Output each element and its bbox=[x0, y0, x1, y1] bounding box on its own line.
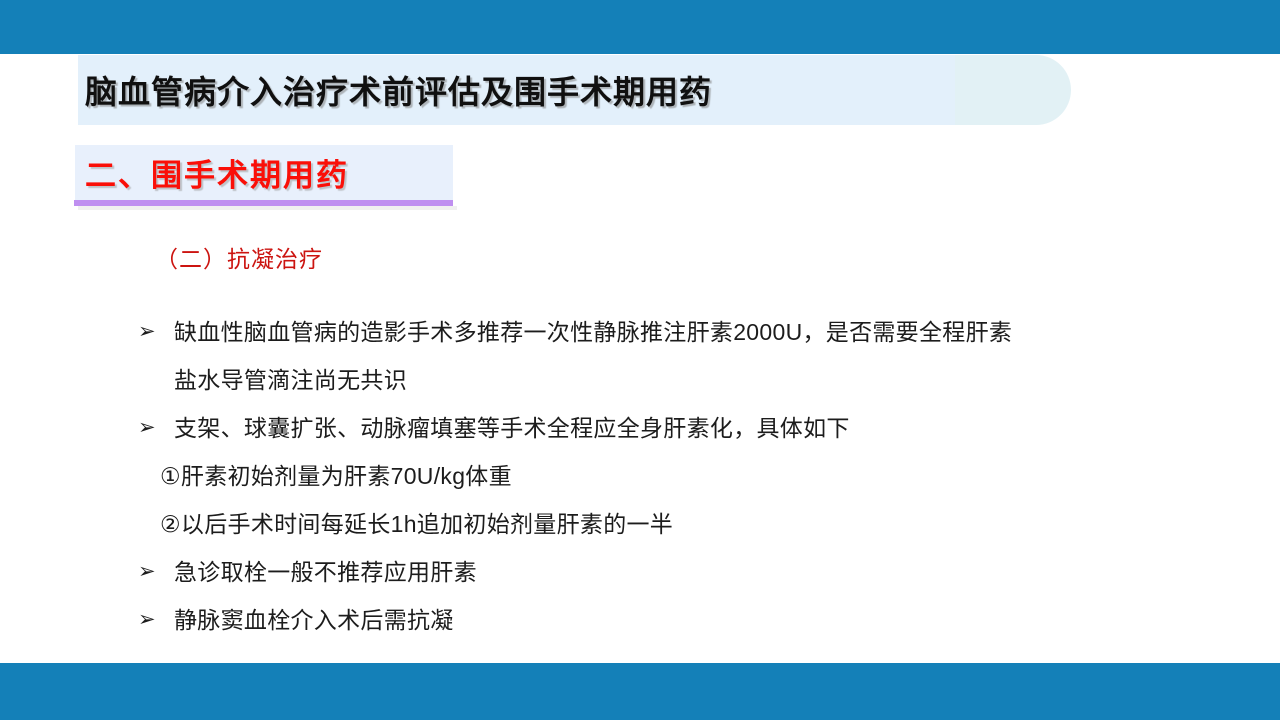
sub-heading-label: （二）抗凝治疗 bbox=[155, 240, 323, 274]
list-item-continuation-text: 盐水导管滴注尚无共识 bbox=[174, 356, 407, 404]
bottom-decorative-bar bbox=[0, 663, 1280, 720]
list-item: ➢ 缺血性脑血管病的造影手术多推荐一次性静脉推注肝素2000U，是否需要全程肝素 bbox=[138, 308, 1238, 356]
list-item-continuation: 盐水导管滴注尚无共识 bbox=[138, 356, 1238, 404]
subitem-indent bbox=[138, 452, 160, 500]
page-title: 脑血管病介入治疗术前评估及围手术期用药 bbox=[78, 55, 955, 125]
list-item-text: 急诊取栓一般不推荐应用肝素 bbox=[174, 548, 1238, 596]
subitem-indent bbox=[138, 500, 160, 548]
top-decorative-bar bbox=[0, 0, 1280, 54]
list-subitem: ①肝素初始剂量为肝素70U/kg体重 bbox=[138, 452, 1238, 500]
arrow-bullet-icon: ➢ bbox=[138, 548, 174, 596]
list-subitem-text: ②以后手术时间每延长1h追加初始剂量肝素的一半 bbox=[160, 500, 673, 548]
list-subitem: ②以后手术时间每延长1h追加初始剂量肝素的一半 bbox=[138, 500, 1238, 548]
list-subitem-text: ①肝素初始剂量为肝素70U/kg体重 bbox=[160, 452, 512, 500]
slide-title-banner: 脑血管病介入治疗术前评估及围手术期用药 bbox=[78, 55, 993, 125]
list-item: ➢ 静脉窦血栓介入术后需抗凝 bbox=[138, 596, 1238, 644]
list-item-text: 支架、球囊扩张、动脉瘤填塞等手术全程应全身肝素化，具体如下 bbox=[174, 404, 1238, 452]
continuation-indent bbox=[138, 356, 174, 404]
arrow-bullet-icon: ➢ bbox=[138, 404, 174, 452]
section-heading-group: 二、围手术期用药 bbox=[75, 145, 453, 207]
content-bullet-list: ➢ 缺血性脑血管病的造影手术多推荐一次性静脉推注肝素2000U，是否需要全程肝素… bbox=[138, 308, 1238, 644]
list-item-text: 静脉窦血栓介入术后需抗凝 bbox=[174, 596, 1238, 644]
list-item: ➢ 支架、球囊扩张、动脉瘤填塞等手术全程应全身肝素化，具体如下 bbox=[138, 404, 1238, 452]
arrow-bullet-icon: ➢ bbox=[138, 596, 174, 644]
section-heading-label: 二、围手术期用药 bbox=[75, 145, 453, 200]
list-item-text: 缺血性脑血管病的造影手术多推荐一次性静脉推注肝素2000U，是否需要全程肝素 bbox=[174, 308, 1238, 356]
arrow-bullet-icon: ➢ bbox=[138, 308, 174, 356]
slide-canvas: 脑血管病介入治疗术前评估及围手术期用药 二、围手术期用药 （二）抗凝治疗 ➢ 缺… bbox=[0, 0, 1280, 720]
section-rule-shadow bbox=[78, 206, 457, 210]
section-underline-rule bbox=[74, 200, 453, 206]
list-item: ➢ 急诊取栓一般不推荐应用肝素 bbox=[138, 548, 1238, 596]
